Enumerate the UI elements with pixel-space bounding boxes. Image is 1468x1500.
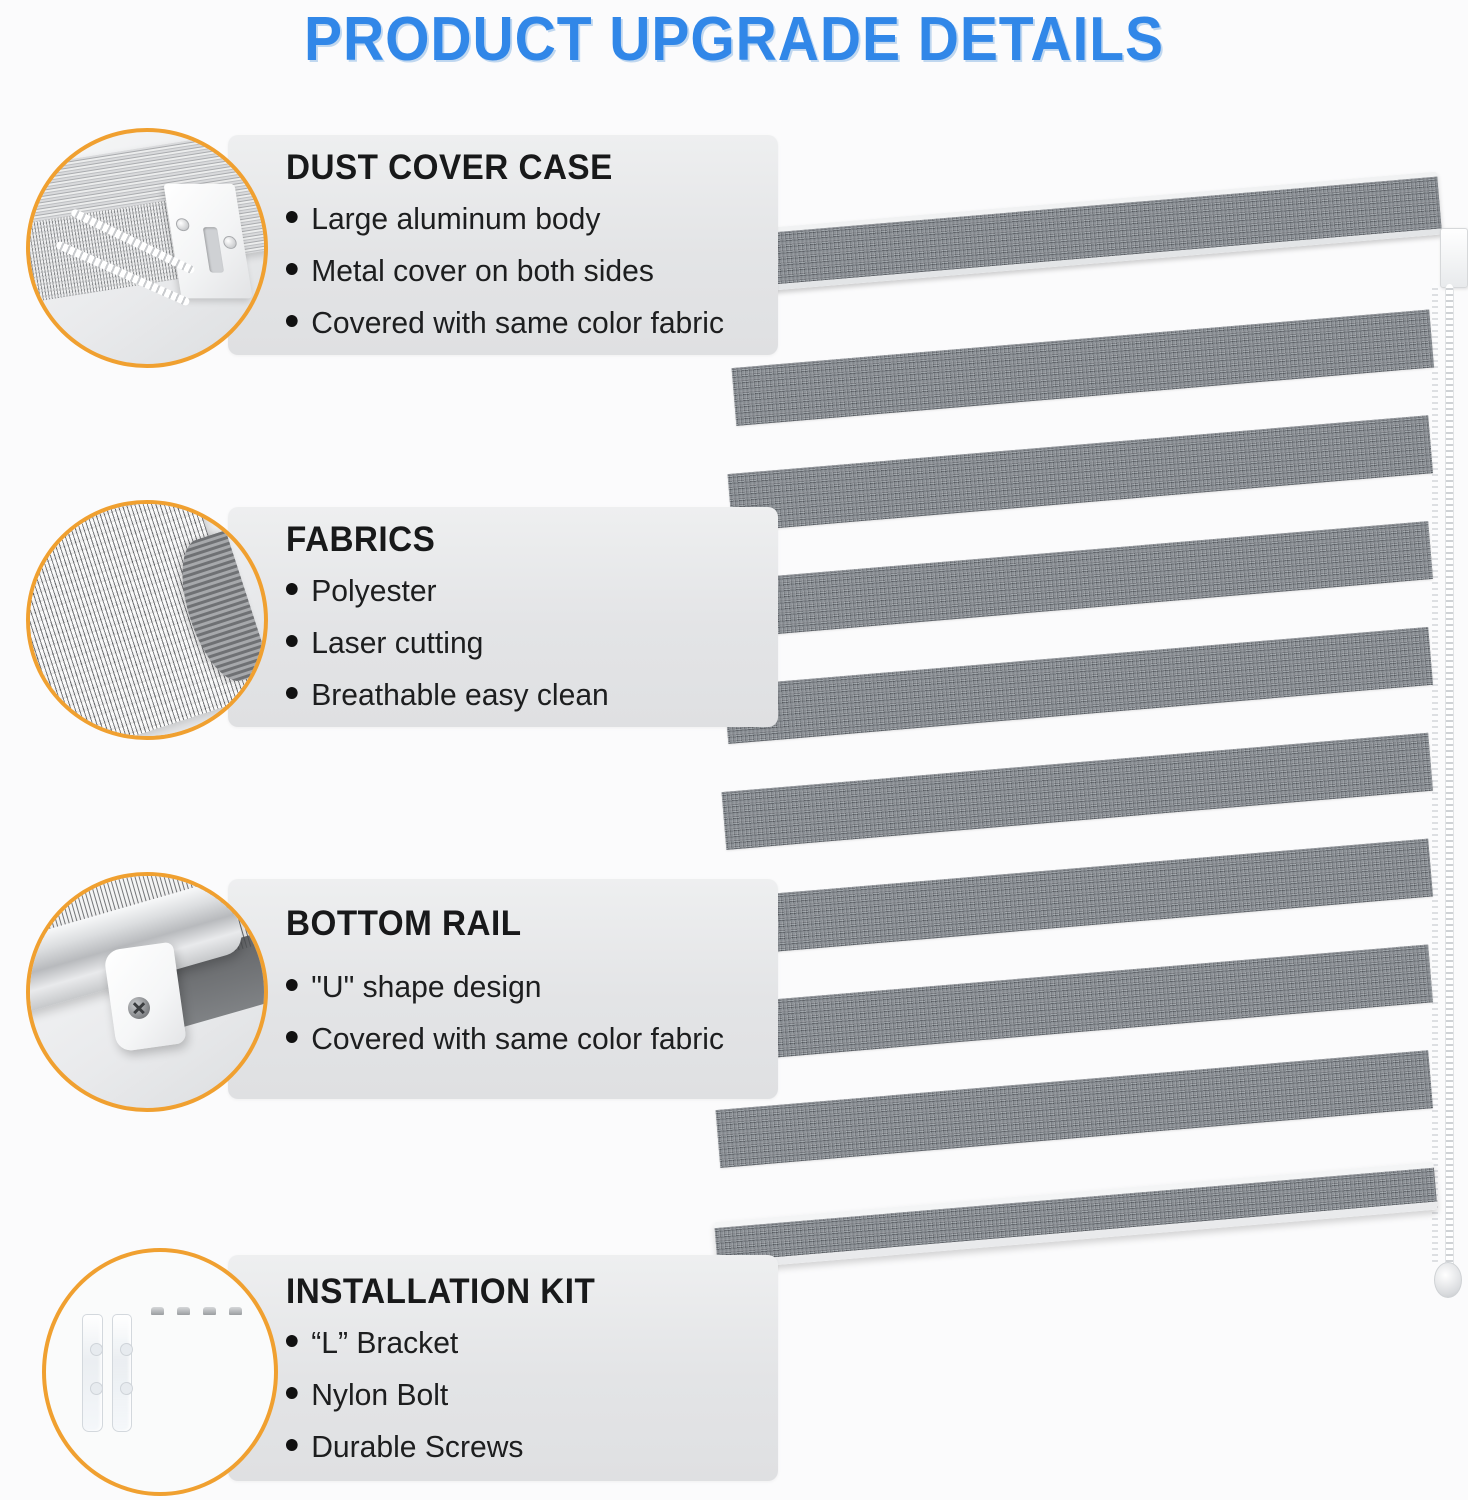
bullet-item: Metal cover on both sides [286, 255, 750, 286]
bottom-rail-endcap-photo [26, 872, 268, 1112]
product-image-zebra-roller-blind [716, 222, 1468, 1282]
feature-bottom-rail: BOTTOM RAIL "U" shape design Covered wit… [18, 872, 778, 1104]
feature-bullet-list: "U" shape design Covered with same color… [286, 971, 764, 1075]
feature-text: DUST COVER CASE Large aluminum body Meta… [286, 128, 764, 360]
bullet-item: Polyester [286, 575, 750, 606]
bullet-text: Breathable easy clean [311, 679, 609, 710]
product-infographic: PRODUCT UPGRADE DETAILS [0, 0, 1468, 1500]
page-title: PRODUCT UPGRADE DETAILS [59, 0, 1410, 78]
bullet-text: Covered with same color fabric [311, 307, 724, 338]
fabric-slat [728, 415, 1433, 532]
bead-chain [1445, 284, 1454, 1284]
bullet-item: Breathable easy clean [286, 679, 750, 710]
bullet-item: Large aluminum body [286, 203, 750, 234]
feature-bullet-list: Polyester Laser cutting Breathable easy … [286, 575, 764, 731]
bullet-dot-icon [286, 1031, 298, 1043]
fabric-slat [732, 310, 1434, 426]
bullet-dot-icon [286, 263, 298, 275]
bullet-dot-icon [286, 979, 298, 991]
bottom-rail [714, 1162, 1437, 1270]
bullet-dot-icon [286, 211, 298, 223]
feature-title: FABRICS [286, 522, 740, 557]
bullet-dot-icon [286, 635, 298, 647]
bullet-item: Laser cutting [286, 627, 750, 658]
bullet-dot-icon [286, 583, 298, 595]
feature-installation-kit: INSTALLATION KIT “L” Bracket Nylon Bolt … [18, 1248, 778, 1488]
bullet-text: Covered with same color fabric [311, 1023, 724, 1054]
installation-hardware-photo [42, 1248, 278, 1496]
feature-text: INSTALLATION KIT “L” Bracket Nylon Bolt … [286, 1248, 764, 1488]
headrail-end-cap [1440, 228, 1468, 288]
bullet-item: Covered with same color fabric [286, 1023, 750, 1054]
bullet-text: "U" shape design [311, 971, 541, 1002]
cross-screw-icon [128, 997, 150, 1019]
bullet-dot-icon [286, 1335, 298, 1347]
bullet-item: Covered with same color fabric [286, 307, 750, 338]
l-bracket-icon [82, 1314, 102, 1431]
feature-title: INSTALLATION KIT [286, 1274, 740, 1309]
fabric-slat [720, 839, 1433, 956]
fabric-slat [716, 1050, 1433, 1168]
fabric-slat [722, 733, 1433, 850]
feature-dust-cover-case: DUST COVER CASE Large aluminum body Meta… [18, 128, 778, 360]
bullet-item: Durable Screws [286, 1431, 750, 1462]
bullet-text: Laser cutting [311, 627, 483, 658]
bullet-item: “L” Bracket [286, 1327, 750, 1358]
white-end-cap [103, 941, 187, 1052]
feature-bullet-list: “L” Bracket Nylon Bolt Durable Screws [286, 1327, 764, 1483]
fabric-slat [724, 627, 1433, 744]
bullet-text: Polyester [311, 575, 436, 606]
fabric-slat [726, 521, 1433, 638]
feature-text: FABRICS Polyester Laser cutting Breathab… [286, 500, 764, 732]
bullet-dot-icon [286, 687, 298, 699]
bullet-item: "U" shape design [286, 971, 750, 1002]
chain-slot [202, 227, 223, 272]
feature-title: BOTTOM RAIL [286, 906, 740, 941]
zebra-fabric-photo [26, 500, 268, 740]
bullet-text: Metal cover on both sides [311, 255, 654, 286]
bullet-dot-icon [286, 1387, 298, 1399]
feature-fabrics: FABRICS Polyester Laser cutting Breathab… [18, 500, 778, 732]
bullet-text: Large aluminum body [311, 203, 600, 234]
bullet-text: “L” Bracket [311, 1327, 458, 1358]
bullet-item: Nylon Bolt [286, 1379, 750, 1410]
chain-tensioner [1434, 1262, 1462, 1298]
dust-cover-cassette-photo [26, 128, 268, 368]
l-bracket-icon [112, 1314, 132, 1431]
feature-title: DUST COVER CASE [286, 150, 740, 185]
feature-bullet-list: Large aluminum body Metal cover on both … [286, 203, 764, 359]
bead-chain-secondary [1432, 284, 1438, 1264]
fabric-slat [718, 944, 1433, 1061]
headrail [739, 172, 1442, 293]
bullet-text: Nylon Bolt [311, 1379, 448, 1410]
bullet-dot-icon [286, 1439, 298, 1451]
bullet-text: Durable Screws [311, 1431, 523, 1462]
feature-text: BOTTOM RAIL "U" shape design Covered wit… [286, 872, 764, 1104]
hardware-group [82, 1314, 242, 1429]
bullet-dot-icon [286, 315, 298, 327]
